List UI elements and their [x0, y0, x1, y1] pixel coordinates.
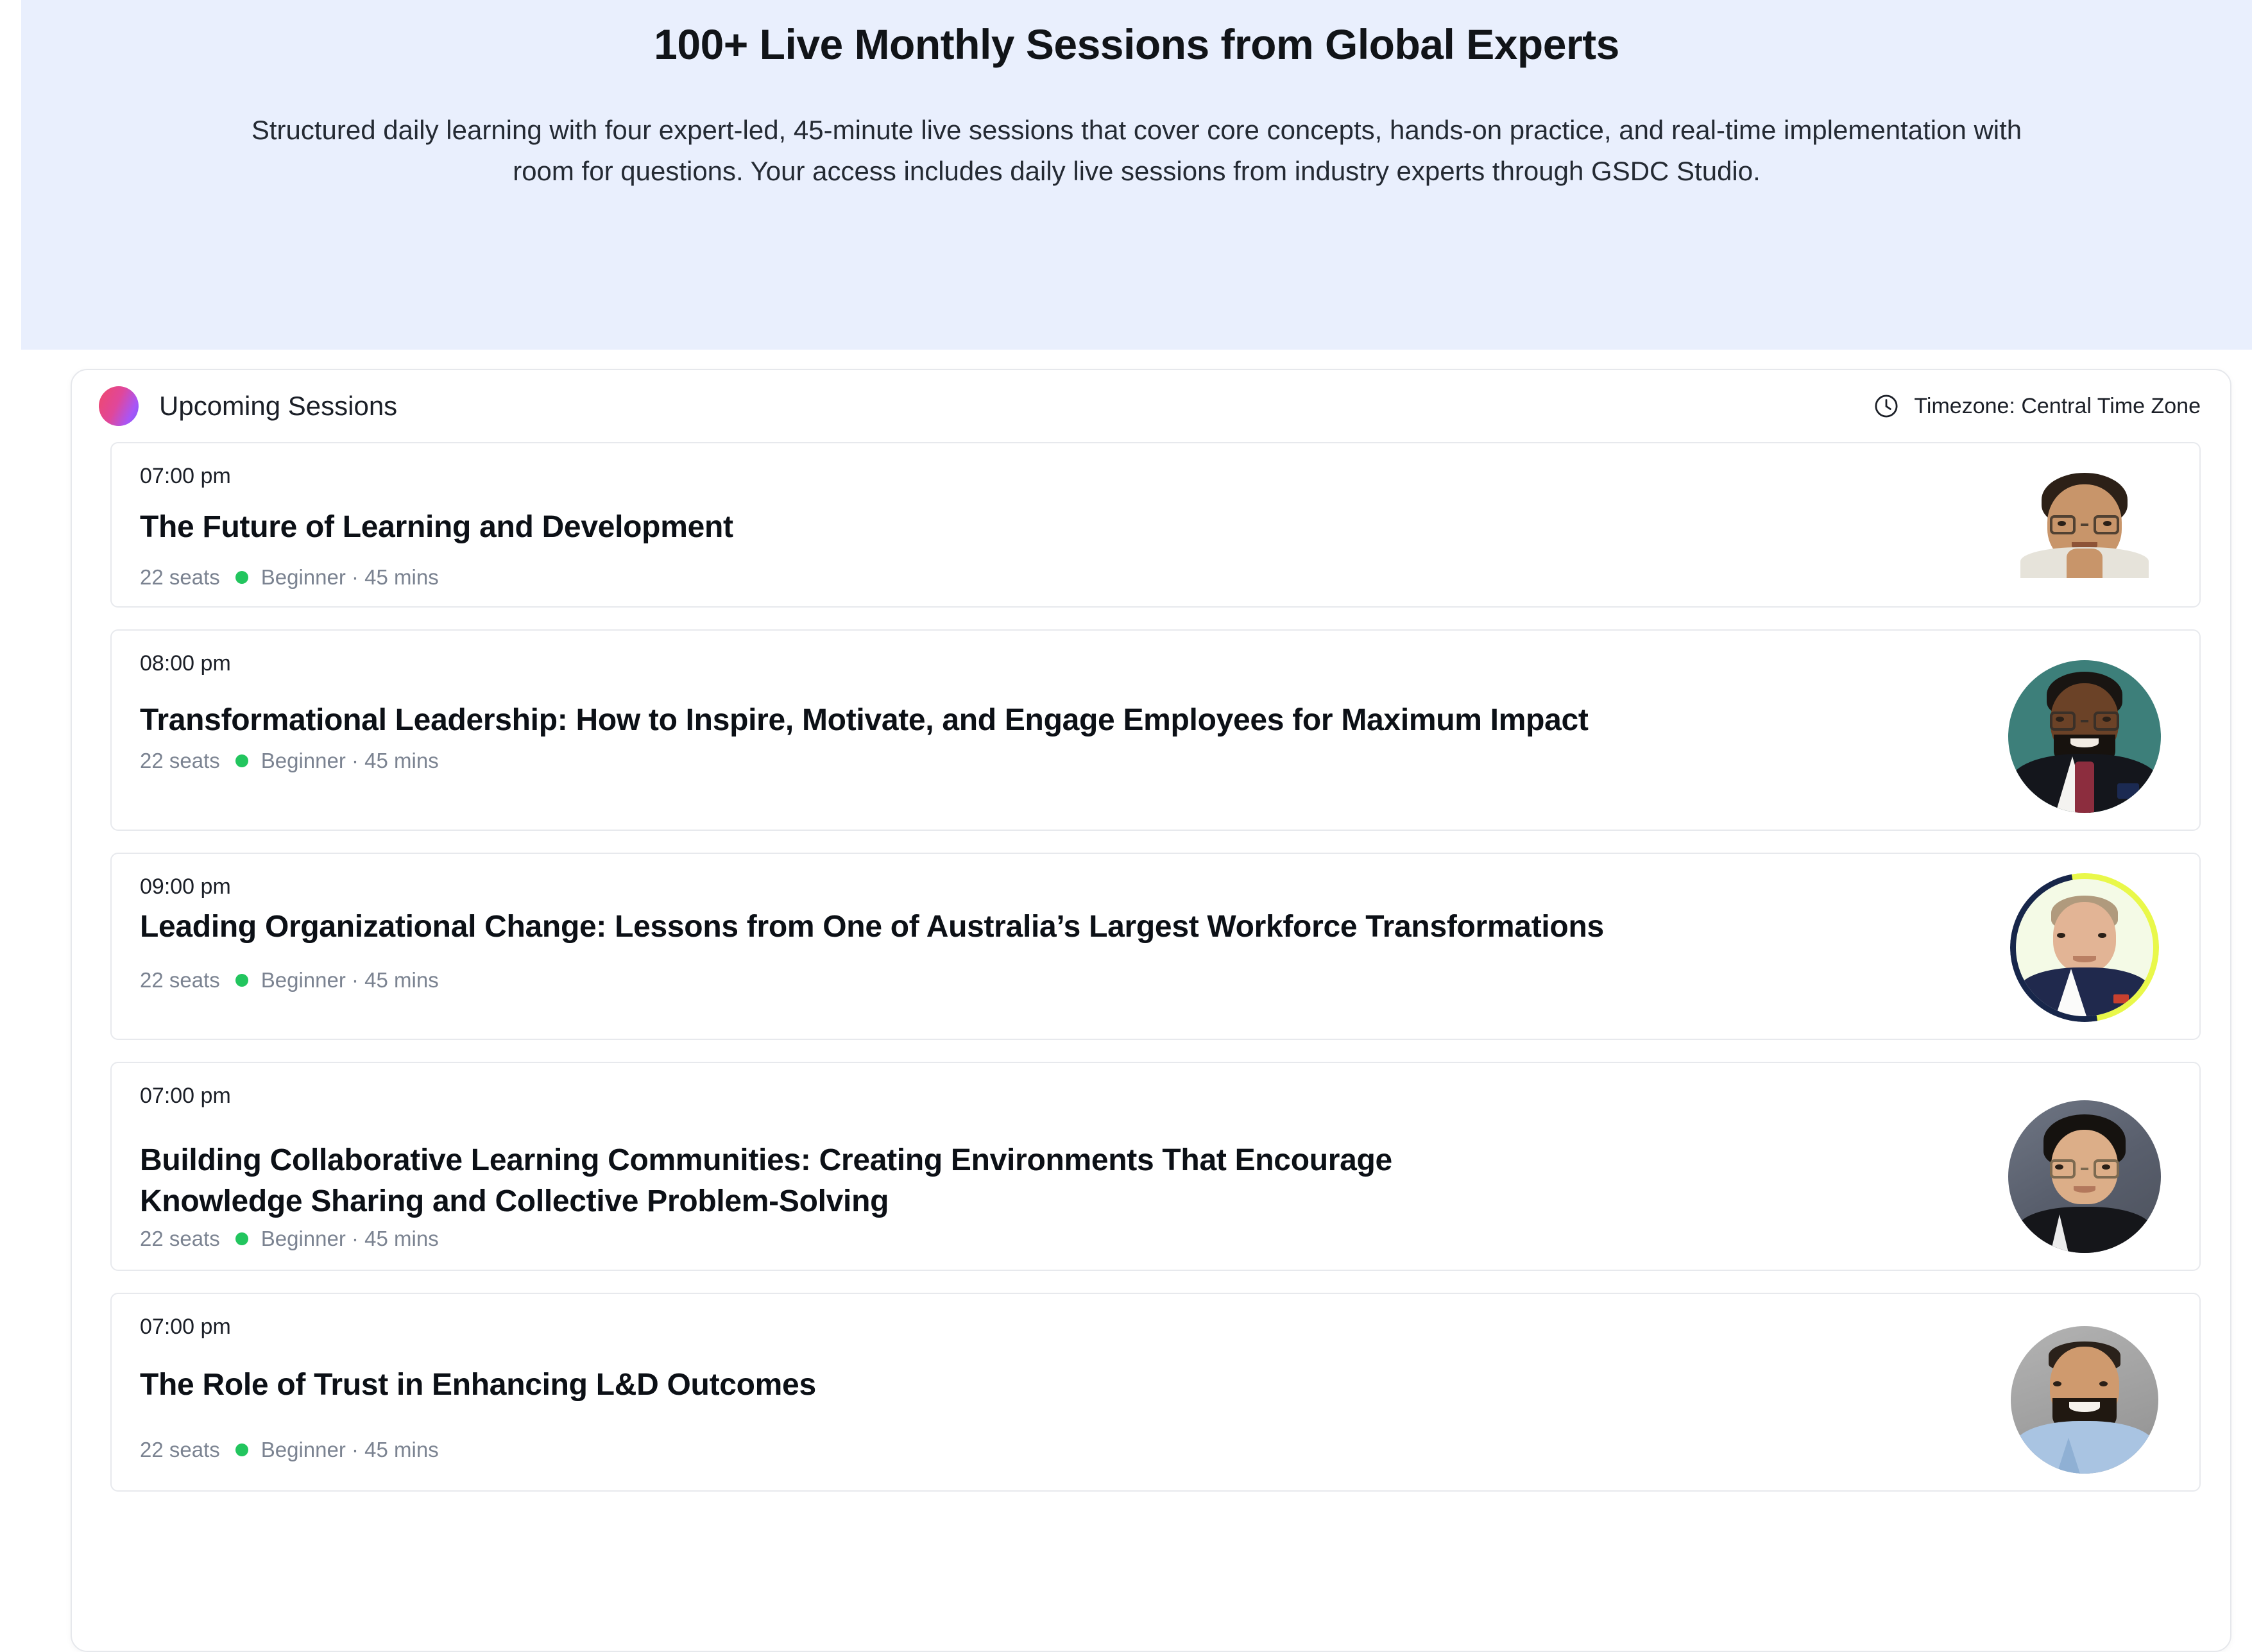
- session-seats: 22 seats: [140, 1227, 220, 1251]
- session-level-duration: Beginner · 45 mins: [261, 1227, 439, 1251]
- speaker-avatar-slot: [1998, 1082, 2171, 1253]
- session-details: 09:00 pm Leading Organizational Change: …: [140, 873, 1998, 992]
- panel-header: Upcoming Sessions Timezone: Central Time…: [72, 370, 2230, 442]
- session-card[interactable]: 08:00 pm Transformational Leadership: Ho…: [110, 629, 2201, 831]
- session-card[interactable]: 09:00 pm Leading Organizational Change: …: [110, 853, 2201, 1040]
- session-time: 07:00 pm: [140, 1313, 1972, 1341]
- speaker-avatar-slot: [1998, 873, 2171, 1022]
- status-dot-icon: [235, 571, 248, 584]
- session-meta: 22 seats Beginner · 45 mins: [140, 565, 1972, 590]
- session-level-duration: Beginner · 45 mins: [261, 749, 439, 773]
- session-details: 07:00 pm The Role of Trust in Enhancing …: [140, 1313, 1998, 1462]
- session-title: Transformational Leadership: How to Insp…: [140, 700, 1609, 740]
- page-title: 100+ Live Monthly Sessions from Global E…: [654, 19, 1619, 70]
- session-card[interactable]: 07:00 pm Building Collaborative Learning…: [110, 1062, 2201, 1271]
- session-seats: 22 seats: [140, 749, 220, 773]
- session-meta: 22 seats Beginner · 45 mins: [140, 1438, 1972, 1462]
- session-details: 08:00 pm Transformational Leadership: Ho…: [140, 650, 1998, 773]
- status-dot-icon: [235, 1232, 248, 1245]
- session-seats: 22 seats: [140, 1438, 220, 1462]
- status-dot-icon: [235, 974, 248, 987]
- session-time: 07:00 pm: [140, 463, 1972, 490]
- session-meta: 22 seats Beginner · 45 mins: [140, 1227, 1972, 1251]
- session-card[interactable]: 07:00 pm The Future of Learning and Deve…: [110, 442, 2201, 608]
- avatar: [2008, 660, 2161, 813]
- avatar: [2008, 1100, 2161, 1253]
- panel-title: Upcoming Sessions: [159, 391, 397, 422]
- gradient-dot-icon: [99, 386, 139, 426]
- session-meta: 22 seats Beginner · 45 mins: [140, 968, 1972, 992]
- session-time: 09:00 pm: [140, 873, 1972, 901]
- session-time: 07:00 pm: [140, 1082, 1972, 1110]
- sessions-list: 07:00 pm The Future of Learning and Deve…: [72, 442, 2230, 1492]
- session-seats: 22 seats: [140, 565, 220, 590]
- session-level-duration: Beginner · 45 mins: [261, 565, 439, 590]
- upcoming-sessions-panel: Upcoming Sessions Timezone: Central Time…: [71, 369, 2231, 1652]
- session-level-duration: Beginner · 45 mins: [261, 968, 439, 992]
- session-details: 07:00 pm The Future of Learning and Deve…: [140, 463, 1998, 590]
- avatar: [2011, 1326, 2158, 1474]
- session-title: The Role of Trust in Enhancing L&D Outco…: [140, 1365, 1972, 1405]
- clock-icon: [1873, 393, 1900, 420]
- timezone-label: Timezone: Central Time Zone: [1914, 394, 2201, 419]
- status-dot-icon: [235, 1443, 248, 1456]
- session-title: Leading Organizational Change: Lessons f…: [140, 907, 1972, 947]
- status-dot-icon: [235, 754, 248, 767]
- hero-subtitle: Structured daily learning with four expe…: [242, 110, 2032, 192]
- avatar: [2010, 873, 2159, 1022]
- session-title: Building Collaborative Learning Communit…: [140, 1140, 1500, 1222]
- speaker-avatar-slot: [1998, 463, 2171, 578]
- timezone-indicator: Timezone: Central Time Zone: [1873, 393, 2201, 420]
- session-card[interactable]: 07:00 pm The Role of Trust in Enhancing …: [110, 1293, 2201, 1492]
- hero-banner: 100+ Live Monthly Sessions from Global E…: [21, 0, 2252, 350]
- speaker-avatar-slot: [1998, 650, 2171, 813]
- session-meta: 22 seats Beginner · 45 mins: [140, 749, 1972, 773]
- session-time: 08:00 pm: [140, 650, 1972, 677]
- session-details: 07:00 pm Building Collaborative Learning…: [140, 1082, 1998, 1251]
- session-seats: 22 seats: [140, 968, 220, 992]
- avatar: [2017, 463, 2152, 578]
- session-title: The Future of Learning and Development: [140, 507, 1972, 547]
- speaker-avatar-slot: [1998, 1313, 2171, 1474]
- session-level-duration: Beginner · 45 mins: [261, 1438, 439, 1462]
